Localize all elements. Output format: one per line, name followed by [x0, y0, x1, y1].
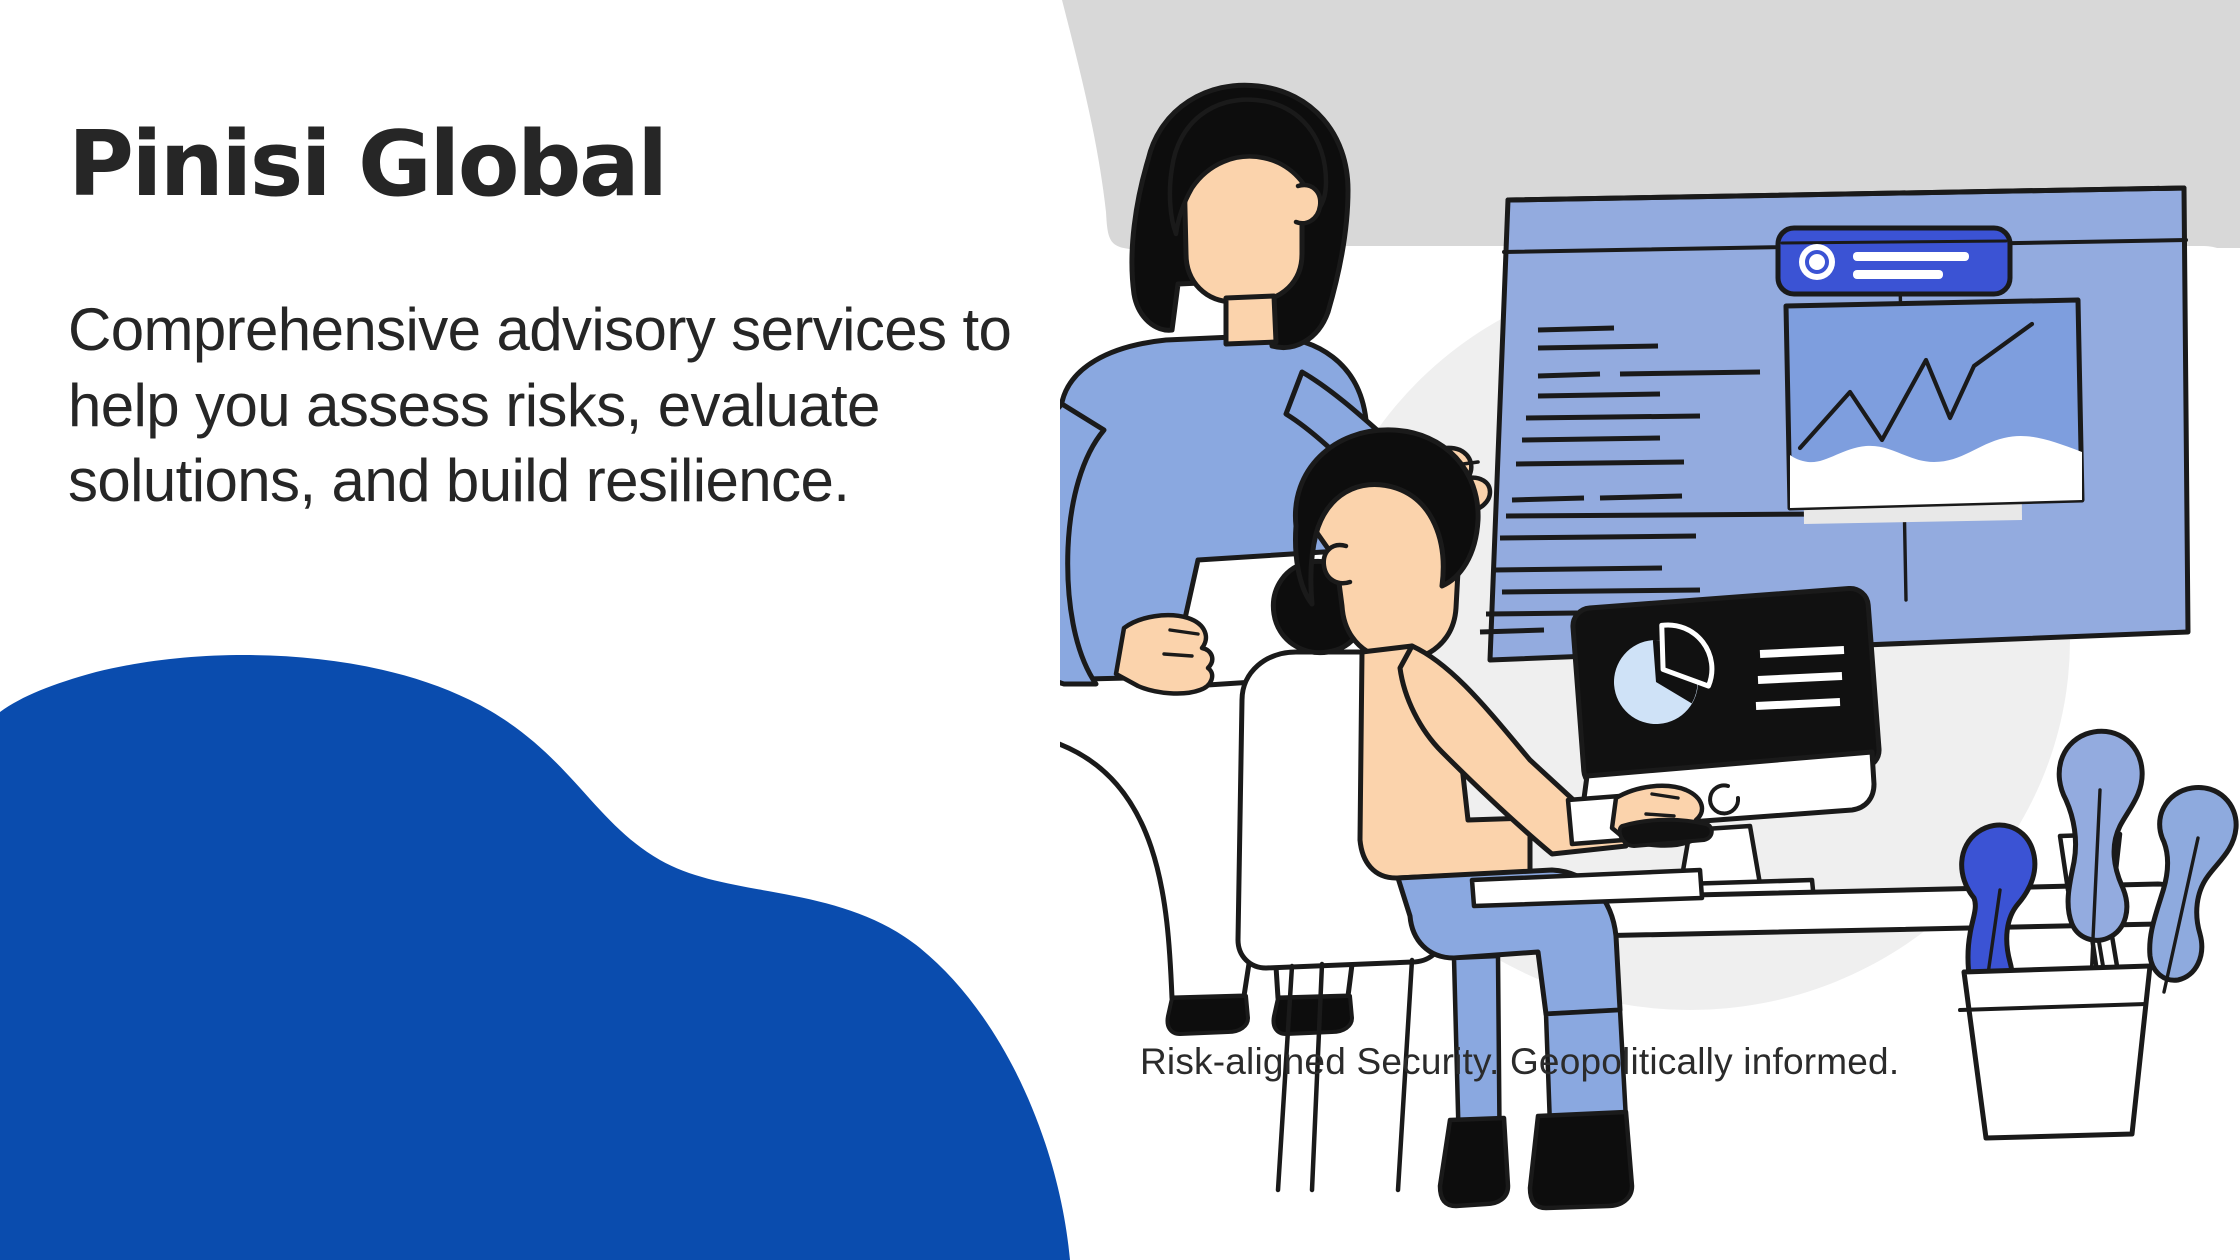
- leaf-right: [2150, 787, 2236, 980]
- pie-chart-monitor: [1572, 587, 1881, 906]
- illustration-caption: Risk-aligned Security. Geopolitically in…: [1140, 1040, 2200, 1084]
- tagline-text: Comprehensive advisory services to help …: [68, 292, 1048, 519]
- page-title: Pinisi Global: [68, 120, 1078, 210]
- text-column: Pinisi Global Comprehensive advisory ser…: [68, 120, 1078, 519]
- notification-bar: [1778, 228, 2012, 294]
- mouse: [1620, 820, 1712, 846]
- slide-root: Pinisi Global Comprehensive advisory ser…: [0, 0, 2240, 1260]
- circle-avatar-icon: [1799, 244, 1835, 280]
- line-chart-panel: [1786, 300, 2082, 524]
- blue-organic-blob: [0, 655, 1070, 1260]
